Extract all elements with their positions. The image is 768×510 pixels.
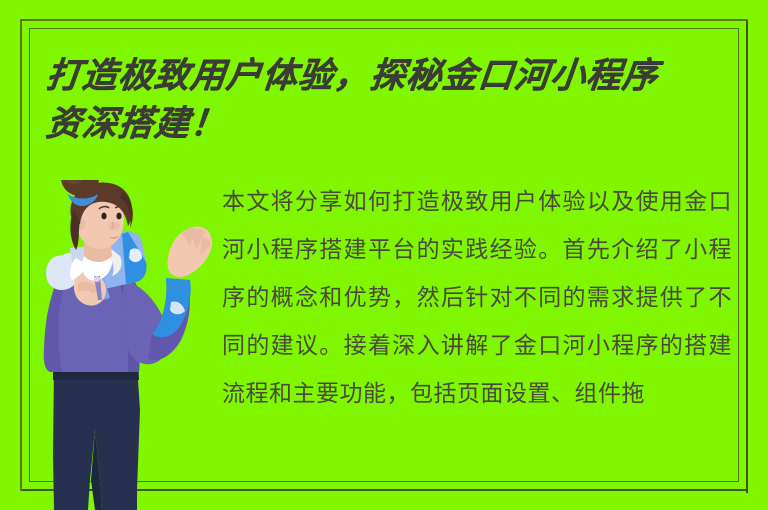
page-title: 打造极致用户体验，探秘金口河小程序 资深搭建！	[46, 52, 746, 148]
zipper-pull	[94, 276, 100, 282]
frame-shadow-right	[746, 21, 748, 493]
eye-right	[116, 213, 121, 220]
eye-left	[101, 213, 106, 220]
title-line-1: 打造极致用户体验，探秘金口河小程序	[43, 52, 748, 100]
woman-with-megaphone-illustration	[40, 180, 225, 510]
title-line-2: 资深搭建！	[43, 100, 748, 148]
poster-canvas: 打造极致用户体验，探秘金口河小程序 资深搭建！ 本文将分享如何打造极致用户体验以…	[0, 0, 768, 510]
body-paragraph: 本文将分享如何打造极致用户体验以及使用金口河小程序搭建平台的实践经验。首先介绍了…	[222, 178, 732, 418]
